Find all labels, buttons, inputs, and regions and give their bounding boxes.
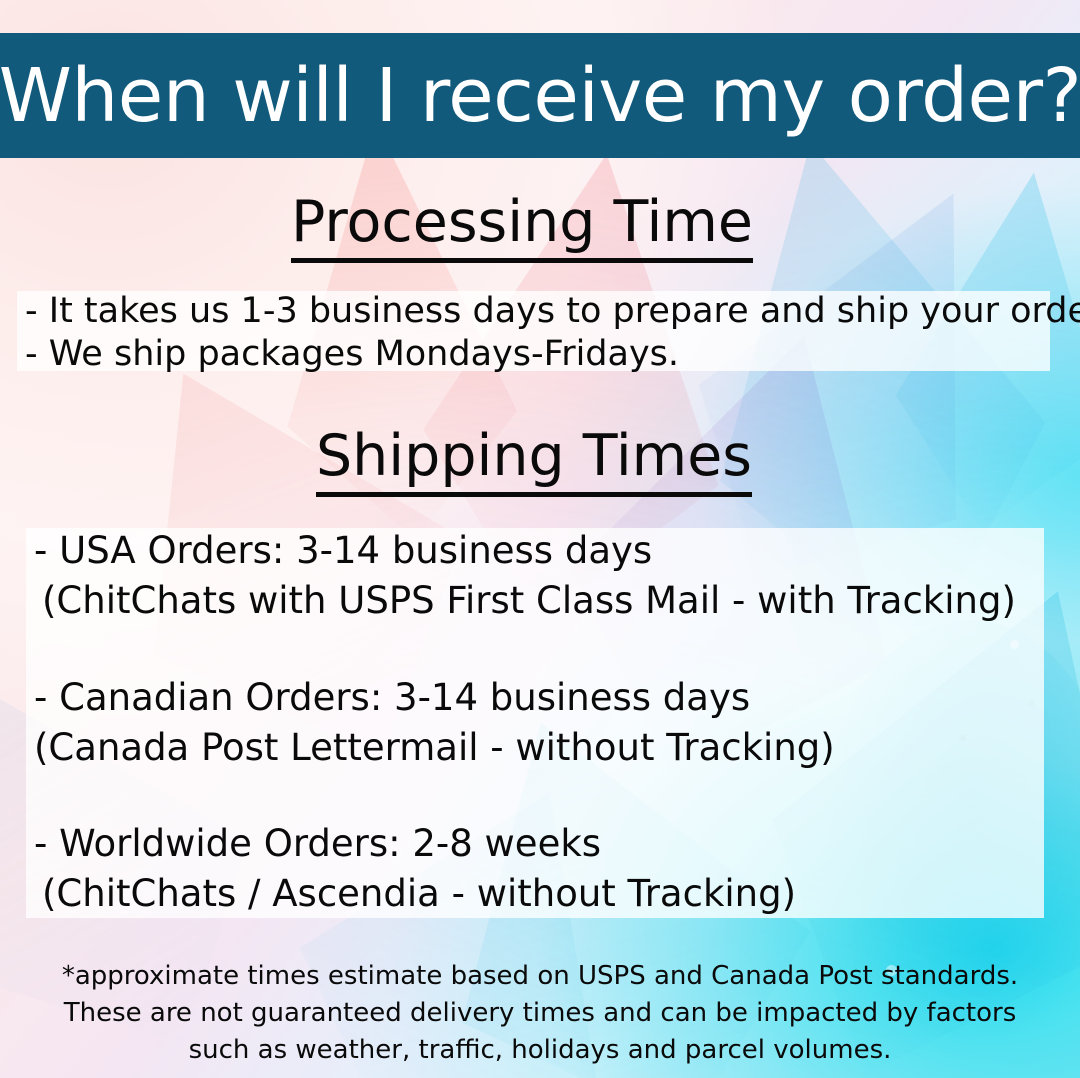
page-title: When will I receive my order? — [0, 59, 1080, 133]
heading-shipping-times: Shipping Times — [316, 427, 752, 497]
heading-processing-time: Processing Time — [291, 193, 753, 263]
shipping-usa-line-2: (ChitChats with USPS First Class Mail - … — [42, 582, 1016, 619]
footer-line-1: *approximate times estimate based on USP… — [0, 958, 1080, 995]
processing-time-line-2: - We ship packages Mondays-Fridays. — [25, 337, 679, 372]
shipping-worldwide-line-1: - Worldwide Orders: 2-8 weeks — [34, 825, 601, 862]
footer-line-2: These are not guaranteed delivery times … — [0, 995, 1080, 1032]
shipping-canada-line-1: - Canadian Orders: 3-14 business days — [34, 679, 750, 716]
shipping-info-graphic: When will I receive my order? Processing… — [0, 0, 1080, 1078]
processing-time-line-1: - It takes us 1-3 business days to prepa… — [25, 294, 1080, 329]
shipping-usa-line-1: - USA Orders: 3-14 business days — [34, 532, 652, 569]
title-banner: When will I receive my order? — [0, 33, 1080, 158]
shipping-worldwide-line-2: (ChitChats / Ascendia - without Tracking… — [42, 875, 796, 912]
shipping-canada-line-2: (Canada Post Lettermail - without Tracki… — [34, 729, 835, 766]
footer-disclaimer: *approximate times estimate based on USP… — [0, 958, 1080, 1069]
footer-line-3: such as weather, traffic, holidays and p… — [0, 1032, 1080, 1069]
